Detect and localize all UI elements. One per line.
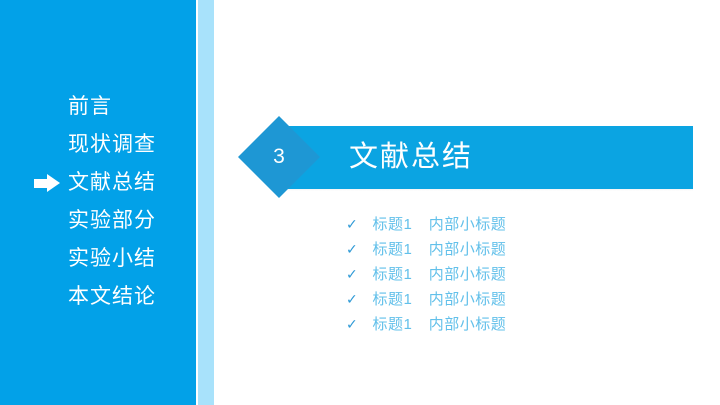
presentation-slide: 前言 现状调查 文献总结 实验部分 实验小结 (0, 0, 720, 405)
list-item-title: 标题1 (372, 262, 412, 287)
check-icon: ✓ (346, 237, 368, 262)
sidebar-nav-list: 前言 现状调查 文献总结 实验部分 实验小结 (0, 88, 196, 316)
sidebar-item-label: 实验部分 (68, 209, 156, 232)
list-item-title: 标题1 (372, 312, 412, 337)
sidebar-item-label: 前言 (68, 95, 112, 118)
list-item-subtitle: 内部小标题 (429, 287, 507, 312)
sidebar-item-label: 文献总结 (68, 171, 156, 194)
sidebar-accent-strip (198, 0, 214, 405)
list-item-title: 标题1 (372, 287, 412, 312)
sidebar-item-0[interactable]: 前言 (0, 88, 196, 126)
list-item-title: 标题1 (372, 212, 412, 237)
sidebar-item-4[interactable]: 实验小结 (0, 240, 196, 278)
bullet-list: ✓ 标题1 内部小标题 ✓ 标题1 内部小标题 ✓ 标题1 内部小标题 ✓ 标题… (346, 212, 506, 337)
section-number-label: 3 (250, 128, 308, 186)
sidebar-item-2[interactable]: 文献总结 (0, 164, 196, 202)
list-item[interactable]: ✓ 标题1 内部小标题 (346, 212, 506, 237)
sidebar-item-1[interactable]: 现状调查 (0, 126, 196, 164)
list-item-subtitle: 内部小标题 (429, 237, 507, 262)
list-item-title: 标题1 (372, 237, 412, 262)
section-title-banner: 文献总结 (280, 126, 693, 189)
list-item-subtitle: 内部小标题 (429, 262, 507, 287)
list-item[interactable]: ✓ 标题1 内部小标题 (346, 262, 506, 287)
list-item[interactable]: ✓ 标题1 内部小标题 (346, 312, 506, 337)
list-item[interactable]: ✓ 标题1 内部小标题 (346, 287, 506, 312)
sidebar-item-3[interactable]: 实验部分 (0, 202, 196, 240)
check-icon: ✓ (346, 212, 368, 237)
sidebar-item-label: 实验小结 (68, 247, 156, 270)
page-title: 文献总结 (349, 126, 473, 189)
check-icon: ✓ (346, 262, 368, 287)
check-icon: ✓ (346, 287, 368, 312)
list-item-subtitle: 内部小标题 (429, 212, 507, 237)
list-item[interactable]: ✓ 标题1 内部小标题 (346, 237, 506, 262)
sidebar-item-label: 现状调查 (68, 133, 156, 156)
list-item-subtitle: 内部小标题 (429, 312, 507, 337)
sidebar-item-5[interactable]: 本文结论 (0, 278, 196, 316)
right-arrow-icon (34, 174, 62, 192)
sidebar-item-label: 本文结论 (68, 285, 156, 308)
check-icon: ✓ (346, 312, 368, 337)
